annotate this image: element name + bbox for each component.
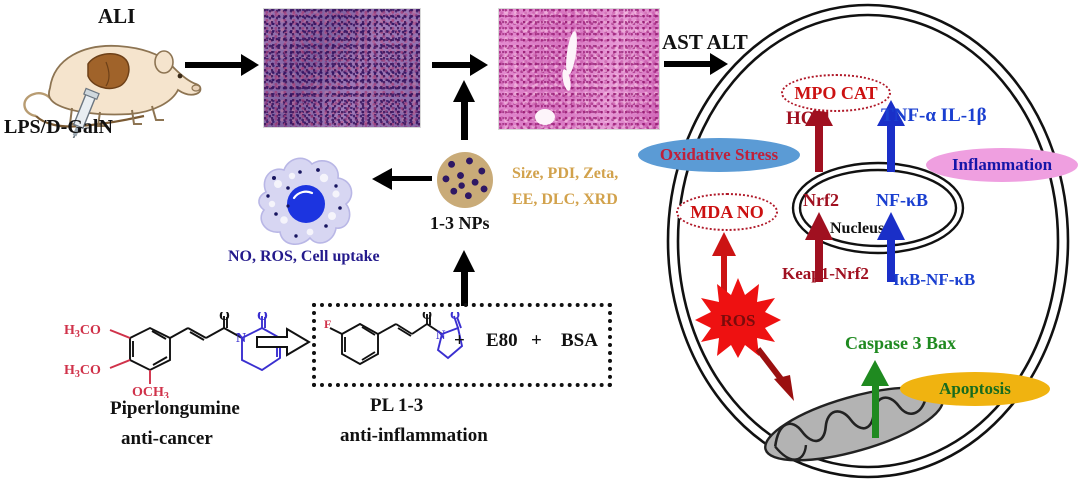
arrow-caspase-up-icon <box>860 360 894 438</box>
badge-oxidative-stress-label: Oxidative Stress <box>660 145 778 165</box>
svg-text:O: O <box>257 312 268 324</box>
hollow-right-arrow-icon <box>255 327 311 357</box>
badge-inflammation: Inflammation <box>926 148 1078 182</box>
histology-panel-injured <box>263 8 421 128</box>
nucleus-nrf2-label: Nrf2 <box>803 190 839 211</box>
svg-text:H3CO: H3CO <box>64 363 101 380</box>
macrophage-label: NO, ROS, Cell uptake <box>228 248 380 266</box>
badge-oxidative-stress: Oxidative Stress <box>638 138 800 172</box>
badge-apoptosis: Apoptosis <box>900 372 1050 406</box>
macrophage-icon <box>244 148 364 256</box>
nanoparticle-icon <box>437 152 493 208</box>
nanoparticle-characterization-line-2: EE, DLC, XRD <box>512 191 618 209</box>
nucleus-nfkb-label: NF-κB <box>876 190 928 211</box>
svg-text:F: F <box>324 317 331 331</box>
svg-text:O: O <box>450 312 460 322</box>
figure-canvas: ALI LPS/D-GalN <box>0 0 1080 483</box>
excipient-bsa-label: BSA <box>561 330 598 352</box>
ikb-nfkb-label: IκB-NF-κB <box>893 270 975 290</box>
svg-text:N: N <box>436 327 446 342</box>
svg-text:H3CO: H3CO <box>64 323 101 340</box>
tnf-il1b-label: TNF-α IL-1β <box>881 105 987 127</box>
mpo-cat-badge: MPO CAT <box>781 74 891 112</box>
svg-text:O: O <box>422 312 432 322</box>
excipient-e80-label: E80 <box>486 330 518 352</box>
nanoparticle-label: 1-3 NPs <box>430 213 490 234</box>
ali-label: ALI <box>98 4 135 29</box>
plus-sign-2: + <box>531 330 542 352</box>
svg-text:O: O <box>219 312 230 324</box>
badge-inflammation-label: Inflammation <box>952 155 1052 175</box>
piperlongumine-activity: anti-cancer <box>121 428 213 450</box>
piperlongumine-name: Piperlongumine <box>110 398 240 420</box>
mda-no-label: MDA NO <box>690 202 764 223</box>
mda-no-badge: MDA NO <box>676 193 778 231</box>
pl13-activity: anti-inflammation <box>340 425 488 447</box>
plus-sign-1: + <box>454 330 465 352</box>
svg-text:ROS: ROS <box>721 311 756 330</box>
caspase-bax-label: Caspase 3 Bax <box>845 333 956 354</box>
pl13-name: PL 1-3 <box>370 395 423 417</box>
inducer-label: LPS/D-GalN <box>4 116 113 139</box>
keap1-nrf2-label: Keap1-Nrf2 <box>782 264 869 284</box>
pl13-structure-icon: N O O F <box>324 312 464 376</box>
svg-text:OCH3: OCH3 <box>132 385 169 398</box>
svg-text:N: N <box>236 331 246 346</box>
badge-apoptosis-label: Apoptosis <box>939 379 1011 399</box>
mpo-cat-label: MPO CAT <box>794 83 877 104</box>
nanoparticle-characterization-line-1: Size, PDI, Zeta, <box>512 165 618 183</box>
